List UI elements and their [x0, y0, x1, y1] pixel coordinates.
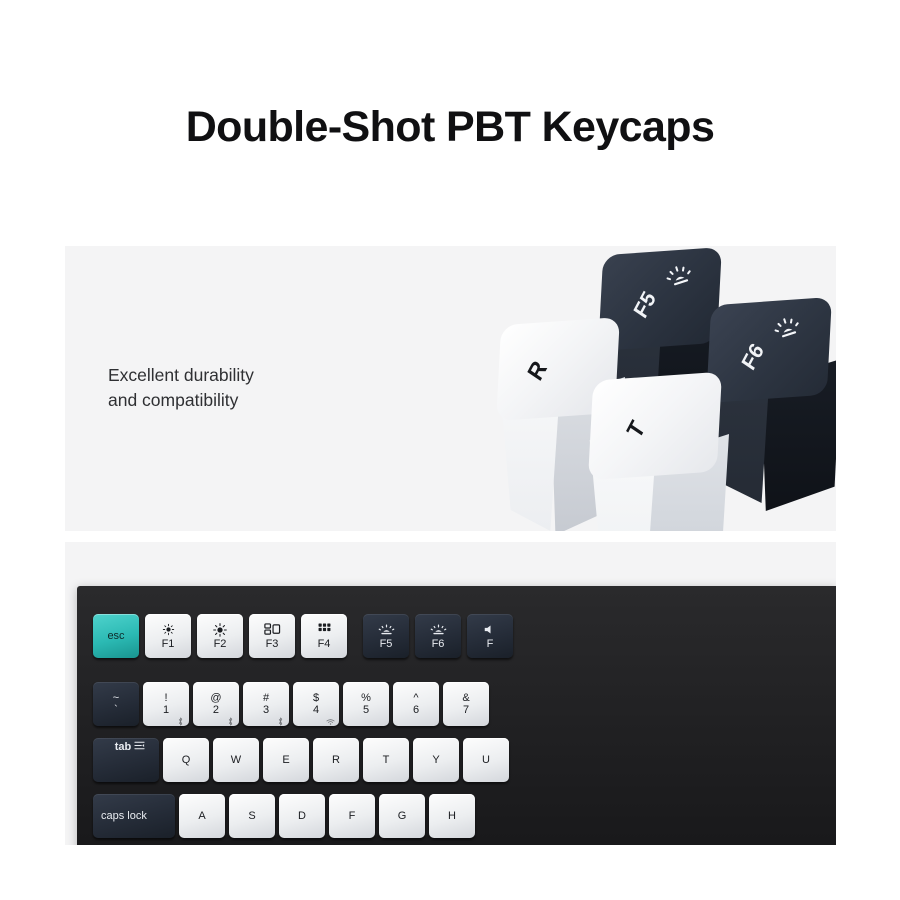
panel-caption-durability: Excellent durability and compatibility — [108, 363, 254, 413]
key-r[interactable]: R — [313, 738, 359, 782]
key-f5[interactable]: F5 — [363, 614, 409, 658]
keycap-t-top-face — [588, 372, 722, 481]
key-f1[interactable]: F1 — [145, 614, 191, 658]
key-2-bottom-label: 2 — [210, 704, 221, 716]
key-y-label: Y — [432, 754, 439, 766]
key-7[interactable]: & 7 — [443, 682, 489, 726]
key-f6[interactable]: F6 — [415, 614, 461, 658]
key-f2-label: F2 — [214, 638, 227, 650]
key-e-label: E — [282, 754, 289, 766]
key-g[interactable]: G — [379, 794, 425, 838]
key-tab-label: tab — [115, 741, 132, 753]
key-g-label: G — [398, 810, 407, 822]
key-s[interactable]: S — [229, 794, 275, 838]
key-u[interactable]: U — [463, 738, 509, 782]
key-f1-label: F1 — [162, 638, 175, 650]
key-a[interactable]: A — [179, 794, 225, 838]
key-f7[interactable]: F — [467, 614, 513, 658]
key-y[interactable]: Y — [413, 738, 459, 782]
key-esc[interactable]: esc — [93, 614, 139, 658]
backlight-up-icon — [430, 623, 447, 637]
key-1-top-label: ! — [163, 692, 169, 704]
key-caps-lock[interactable]: caps lock — [93, 794, 175, 838]
key-6-top-label: ^ — [413, 692, 419, 704]
key-q[interactable]: Q — [163, 738, 209, 782]
key-f5-label: F5 — [380, 638, 393, 650]
bluetooth-icon — [176, 713, 185, 722]
keycap-t: T — [585, 376, 735, 531]
media-icon — [483, 623, 497, 637]
key-f7-label: F — [487, 638, 494, 650]
key-6[interactable]: ^ 6 — [393, 682, 439, 726]
backlight-down-icon — [378, 623, 395, 637]
key-q-label: Q — [182, 754, 191, 766]
keyboard-home-row: caps lock A S D F G H — [93, 794, 475, 838]
bluetooth-icon — [276, 713, 285, 722]
key-7-bottom-label: 7 — [462, 704, 469, 716]
key-4-bottom-label: 4 — [313, 704, 319, 716]
brightness-down-icon — [162, 623, 175, 637]
key-backtick-top-label: ~ — [113, 692, 119, 704]
key-3-bottom-label: 3 — [263, 704, 269, 716]
key-backtick-bottom-label: ` — [113, 704, 119, 716]
tab-arrows-icon — [134, 738, 145, 756]
key-t[interactable]: T — [363, 738, 409, 782]
key-h[interactable]: H — [429, 794, 475, 838]
key-1-bottom-label: 1 — [163, 704, 169, 716]
launchpad-icon — [318, 623, 331, 637]
key-4-top-label: $ — [313, 692, 319, 704]
key-f4-label: F4 — [318, 638, 331, 650]
feature-panel-ergonomic: Classic KSA ergonomic design for standar… — [65, 542, 836, 845]
key-2[interactable]: @ 2 — [193, 682, 239, 726]
key-s-label: S — [248, 810, 255, 822]
key-3-top-label: # — [263, 692, 269, 704]
brightness-up-icon — [213, 623, 227, 637]
key-u-label: U — [482, 754, 490, 766]
key-e[interactable]: E — [263, 738, 309, 782]
feature-panel-durability: Excellent durability and compatibility — [65, 246, 836, 531]
key-esc-label: esc — [107, 630, 124, 642]
key-t-label: T — [383, 754, 390, 766]
key-1[interactable]: ! 1 — [143, 682, 189, 726]
mission-control-icon — [264, 623, 281, 637]
keyboard-number-row: ~ ` ! 1 @ 2 — [93, 682, 489, 726]
key-f6-label: F6 — [432, 638, 445, 650]
key-5-top-label: % — [361, 692, 371, 704]
page-root: Double-Shot PBT Keycaps Excellent durabi… — [0, 0, 900, 900]
key-7-top-label: & — [462, 692, 469, 704]
key-d-label: D — [298, 810, 306, 822]
key-f2[interactable]: F2 — [197, 614, 243, 658]
key-f3-label: F3 — [266, 638, 279, 650]
key-f4[interactable]: F4 — [301, 614, 347, 658]
key-2-top-label: @ — [210, 692, 221, 704]
keyboard-function-row: esc F1 — [93, 614, 513, 658]
key-w[interactable]: W — [213, 738, 259, 782]
key-r-label: R — [332, 754, 340, 766]
key-5-bottom-label: 5 — [361, 704, 371, 716]
key-w-label: W — [231, 754, 241, 766]
keycaps-photo: F5 — [445, 246, 836, 531]
key-4[interactable]: $ 4 — [293, 682, 339, 726]
key-f3[interactable]: F3 — [249, 614, 295, 658]
key-tab[interactable]: tab — [93, 738, 159, 782]
key-3[interactable]: # 3 — [243, 682, 289, 726]
key-f-label: F — [349, 810, 356, 822]
bluetooth-icon — [226, 713, 235, 722]
key-caps-lock-label: caps lock — [101, 810, 147, 822]
key-h-label: H — [448, 810, 456, 822]
keyboard-photo: esc F1 — [77, 586, 836, 845]
key-d[interactable]: D — [279, 794, 325, 838]
key-5[interactable]: % 5 — [343, 682, 389, 726]
key-6-bottom-label: 6 — [413, 704, 419, 716]
page-title: Double-Shot PBT Keycaps — [0, 103, 900, 152]
wifi-icon — [326, 713, 335, 722]
key-a-label: A — [198, 810, 205, 822]
keyboard-qwerty-row: tab Q — [93, 738, 509, 782]
key-backtick[interactable]: ~ ` — [93, 682, 139, 726]
key-f[interactable]: F — [329, 794, 375, 838]
